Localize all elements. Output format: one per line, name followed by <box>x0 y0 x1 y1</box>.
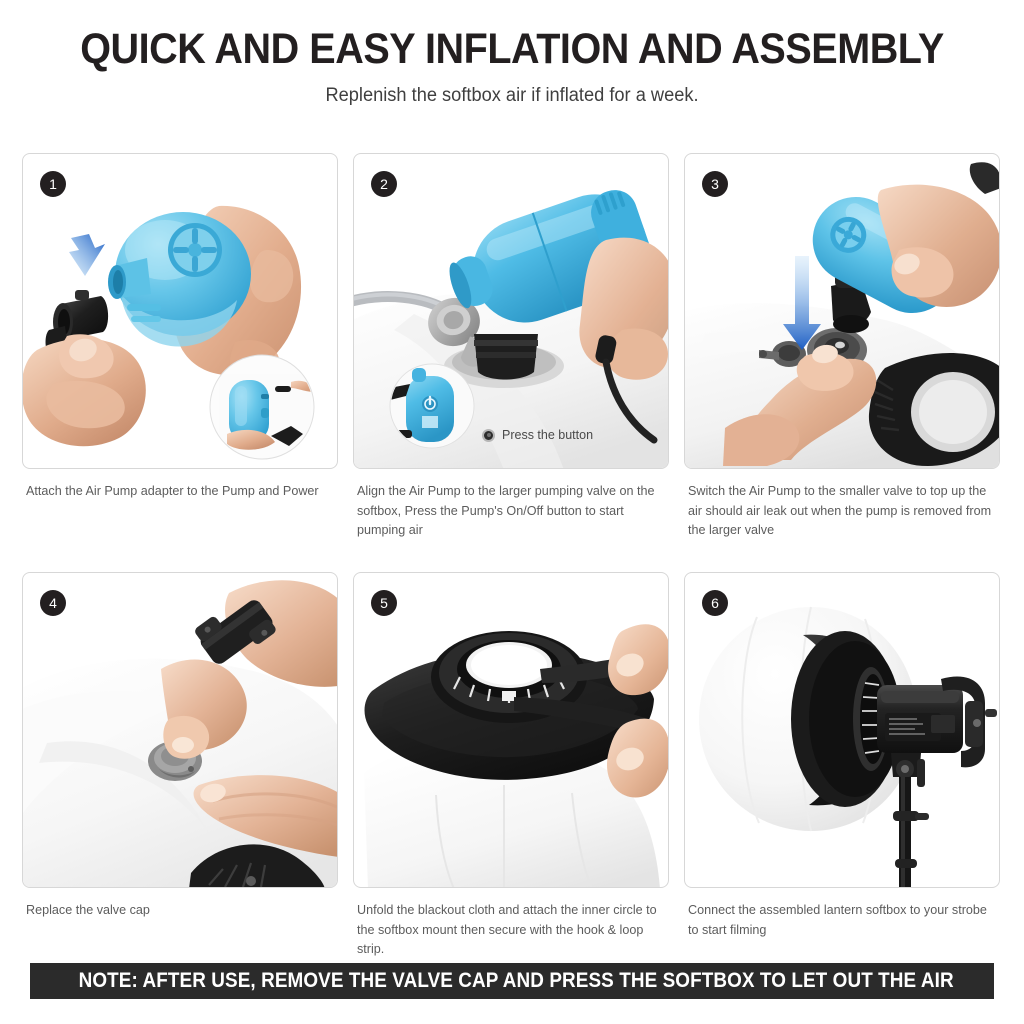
step-panel-3[interactable]: 3 <box>684 153 1000 469</box>
step-caption-3: Switch the Air Pump to the smaller valve… <box>684 469 1000 554</box>
step-caption-1: Attach the Air Pump adapter to the Pump … <box>22 469 338 554</box>
step-cell-5: 5 <box>353 572 669 973</box>
attach-blackout-cloth-illustration <box>354 573 669 888</box>
replace-valve-cap-illustration <box>23 573 338 888</box>
step-cell-4: 4 <box>22 572 338 973</box>
step-image-1 <box>23 154 337 468</box>
press-button-icon <box>482 429 495 442</box>
step-cell-6: 6 <box>684 572 1000 973</box>
press-button-label: Press the button <box>502 428 593 442</box>
step-caption-6: Connect the assembled lantern softbox to… <box>684 888 1000 973</box>
step-caption-2: Align the Air Pump to the larger pumping… <box>353 469 669 554</box>
step-badge-5: 5 <box>371 590 397 616</box>
pump-on-small-valve-illustration <box>685 154 1000 469</box>
step-badge-1: 1 <box>40 171 66 197</box>
note-banner: NOTE: AFTER USE, REMOVE THE VALVE CAP AN… <box>30 963 994 999</box>
steps-grid: 1 <box>22 153 1002 973</box>
step-badge-3: 3 <box>702 171 728 197</box>
pump-on-large-valve-illustration <box>354 154 669 469</box>
press-button-annotation: Press the button <box>482 428 593 442</box>
step-cell-3: 3 <box>684 153 1000 554</box>
step-badge-6: 6 <box>702 590 728 616</box>
step-image-6 <box>685 573 999 887</box>
note-text: NOTE: AFTER USE, REMOVE THE VALVE CAP AN… <box>79 969 954 993</box>
step-badge-4: 4 <box>40 590 66 616</box>
steps-row-top: 1 <box>22 153 1002 554</box>
page-subtitle: Replenish the softbox air if inflated fo… <box>20 85 1003 107</box>
step-image-3 <box>685 154 999 468</box>
step-caption-4: Replace the valve cap <box>22 888 338 973</box>
step-panel-2[interactable]: 2 <box>353 153 669 469</box>
steps-row-bottom: 4 <box>22 572 1002 973</box>
pump-adapter-illustration <box>23 154 338 469</box>
page-title: QUICK AND EASY INFLATION AND ASSEMBLY <box>41 28 983 71</box>
step-cell-1: 1 <box>22 153 338 554</box>
step-panel-1[interactable]: 1 <box>22 153 338 469</box>
step-panel-5[interactable]: 5 <box>353 572 669 888</box>
step-image-2 <box>354 154 668 468</box>
step-panel-6[interactable]: 6 <box>684 572 1000 888</box>
step-cell-2: 2 <box>353 153 669 554</box>
step-badge-2: 2 <box>371 171 397 197</box>
step-image-4 <box>23 573 337 887</box>
step-panel-4[interactable]: 4 <box>22 572 338 888</box>
step-caption-5: Unfold the blackout cloth and attach the… <box>353 888 669 973</box>
assembled-softbox-on-strobe-illustration <box>685 573 1000 888</box>
step-image-5 <box>354 573 668 887</box>
header: QUICK AND EASY INFLATION AND ASSEMBLY Re… <box>0 0 1024 107</box>
